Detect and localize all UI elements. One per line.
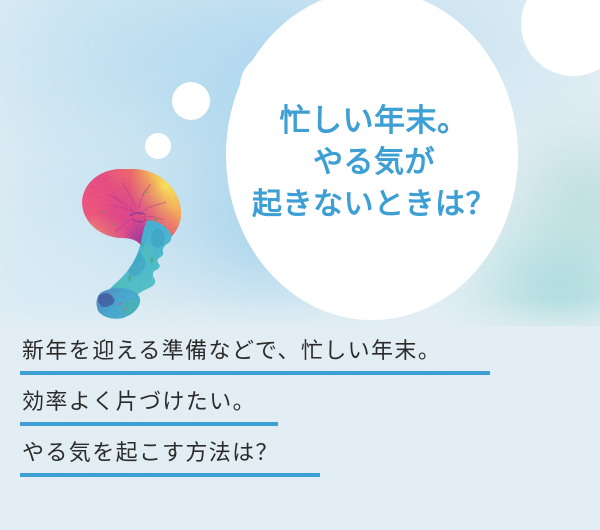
caption-row-2: 効率よく片づけたい。 [0,387,600,426]
bubble-headline-line-3: 起きないときは？ [232,184,516,225]
caption-text-1: 新年を迎える準備などで、忙しい年末。 [0,336,600,366]
thought-bubble-small [172,82,210,120]
poster-canvas: 忙しい年末。 やる気が 起きないときは？ [0,0,600,530]
thought-bubble-tiny [145,133,171,159]
caption-row-1: 新年を迎える準備などで、忙しい年末。 [0,336,600,375]
caption-underline-3 [20,473,320,477]
bubble-headline: 忙しい年末。 やる気が 起きないときは？ [232,100,516,225]
bubble-headline-line-2: やる気が [232,142,516,183]
caption-text-3: やる気を起こす方法は？ [0,438,600,468]
caption-underline-2 [20,422,278,426]
watercolor-woman-profile-silhouette [78,168,186,320]
caption-list: 新年を迎える準備などで、忙しい年末。 効率よく片づけたい。 やる気を起こす方法は… [0,336,600,477]
caption-row-3: やる気を起こす方法は？ [0,438,600,477]
caption-underline-1 [20,371,490,375]
bubble-headline-line-1: 忙しい年末。 [232,100,516,142]
caption-text-2: 効率よく片づけたい。 [0,387,600,417]
